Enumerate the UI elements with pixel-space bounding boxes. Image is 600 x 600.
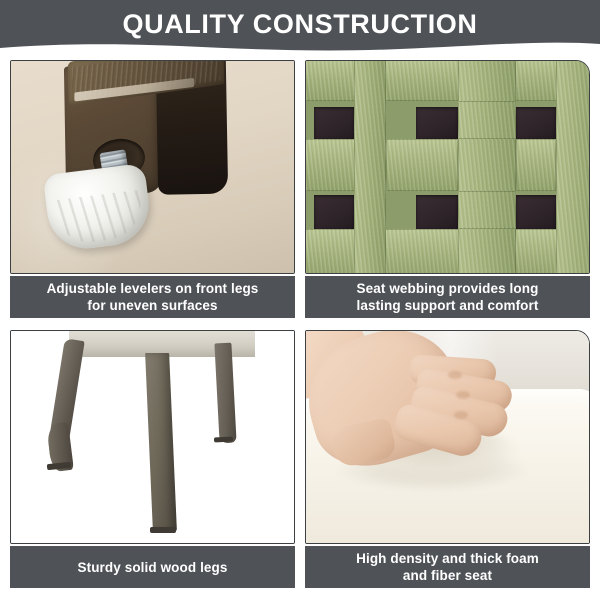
leg-foot	[150, 527, 176, 533]
product-feature-infographic: QUALITY CONSTRUCTION	[0, 0, 600, 600]
webbing-gap	[416, 195, 458, 229]
webbing-gap	[314, 195, 354, 229]
webbing-weave-overlap	[516, 139, 556, 191]
header-banner: QUALITY CONSTRUCTION	[0, 0, 600, 58]
webbing-strap-horizontal	[305, 229, 590, 274]
feature-photo-seat-webbing	[305, 60, 590, 274]
page-title: QUALITY CONSTRUCTION	[0, 8, 600, 40]
chair-leg-rear	[214, 343, 236, 444]
webbing-weave-overlap	[458, 191, 516, 229]
feature-photo-solid-wood-legs	[10, 330, 295, 544]
webbing-strap-horizontal	[305, 60, 590, 101]
webbing-weave-overlap	[458, 101, 516, 139]
knuckle-crease	[454, 411, 468, 419]
feature-card-solid-wood-legs[interactable]: Sturdy solid wood legs	[10, 330, 295, 588]
feature-caption-solid-wood-legs: Sturdy solid wood legs	[10, 546, 295, 588]
feature-caption-seat-webbing: Seat webbing provides long lasting suppo…	[305, 276, 590, 318]
knuckle-crease	[456, 391, 470, 399]
webbing-strap-vertical	[458, 60, 516, 274]
webbing-gap	[516, 107, 556, 139]
glide-ridge-texture	[54, 190, 145, 246]
webbing-gap	[516, 195, 556, 229]
caption-line-2: for uneven surfaces	[47, 297, 259, 314]
caption-line-1: High density and thick foam	[356, 550, 539, 567]
caption-line-2: lasting support and comfort	[357, 297, 539, 314]
webbing-weave-overlap	[386, 139, 458, 191]
caption-line-1: Sturdy solid wood legs	[78, 559, 228, 576]
caption-line-1: Adjustable levelers on front legs	[47, 280, 259, 297]
hand-illustration	[305, 330, 548, 495]
feature-caption-adjustable-levelers: Adjustable levelers on front legs for un…	[10, 276, 295, 318]
webbing-gap	[416, 107, 458, 139]
knuckle-crease	[448, 371, 462, 379]
chair-leg-front	[145, 353, 177, 531]
caption-line-1: Seat webbing provides long	[357, 280, 539, 297]
webbing-strap-vertical	[354, 60, 386, 274]
webbing-strap-vertical	[556, 60, 590, 274]
webbing-gap	[314, 107, 354, 139]
caption-line-2: and fiber seat	[356, 567, 539, 584]
feature-card-high-density-foam[interactable]: High density and thick foam and fiber se…	[305, 330, 590, 588]
wood-legs-scene	[11, 331, 294, 543]
feature-card-seat-webbing[interactable]: Seat webbing provides long lasting suppo…	[305, 60, 590, 318]
leg-foot	[214, 437, 233, 443]
feature-card-adjustable-levelers[interactable]: Adjustable levelers on front legs for un…	[10, 60, 295, 318]
webbing-scene	[306, 61, 589, 273]
feature-photo-high-density-foam	[305, 330, 590, 544]
leveler-scene	[11, 61, 294, 273]
feature-grid: Adjustable levelers on front legs for un…	[10, 58, 590, 592]
foam-scene	[306, 331, 589, 543]
feature-caption-high-density-foam: High density and thick foam and fiber se…	[305, 546, 590, 588]
feature-photo-adjustable-levelers	[10, 60, 295, 274]
